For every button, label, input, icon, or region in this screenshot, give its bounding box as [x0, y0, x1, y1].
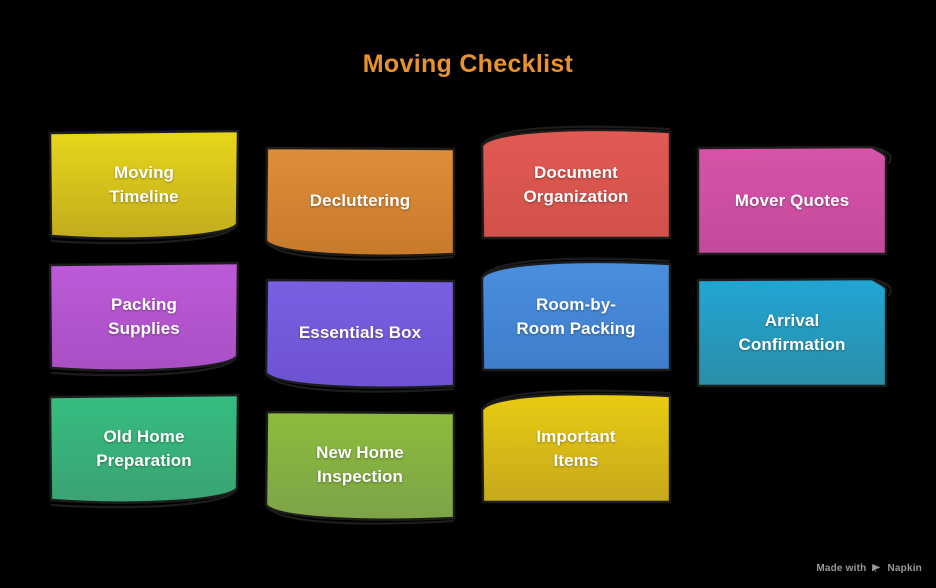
napkin-watermark: Made with Napkin: [816, 563, 922, 574]
card-label: Old Home Preparation: [96, 425, 192, 473]
checklist-card[interactable]: Decluttering: [264, 146, 456, 256]
checklist-card[interactable]: Old Home Preparation: [48, 394, 240, 504]
checklist-card[interactable]: Document Organization: [480, 130, 672, 240]
checklist-card[interactable]: Mover Quotes: [696, 146, 888, 256]
checklist-card[interactable]: New Home Inspection: [264, 410, 456, 520]
checklist-card-grid: Moving TimelineDeclutteringDocument Orga…: [0, 118, 936, 528]
page-title: Moving Checklist: [0, 50, 936, 79]
checklist-card[interactable]: Packing Supplies: [48, 262, 240, 372]
card-label: Document Organization: [523, 161, 628, 209]
watermark-brand-label: Napkin: [887, 563, 922, 574]
card-label: Decluttering: [310, 189, 410, 213]
checklist-card[interactable]: Arrival Confirmation: [696, 278, 888, 388]
card-label: Mover Quotes: [735, 189, 850, 213]
card-label: Essentials Box: [299, 321, 421, 345]
checklist-card[interactable]: Essentials Box: [264, 278, 456, 388]
watermark-prefix-label: Made with: [816, 563, 866, 574]
checklist-card[interactable]: Room-by- Room Packing: [480, 262, 672, 372]
card-label: Arrival Confirmation: [739, 309, 846, 357]
card-label: Important Items: [536, 425, 615, 473]
card-label: Room-by- Room Packing: [516, 293, 635, 341]
checklist-canvas: Moving Checklist Moving TimelineDeclutte…: [0, 0, 936, 588]
checklist-card[interactable]: Moving Timeline: [48, 130, 240, 240]
napkin-leaf-icon: [871, 563, 882, 574]
checklist-card[interactable]: Important Items: [480, 394, 672, 504]
card-label: Packing Supplies: [108, 293, 180, 341]
card-label: New Home Inspection: [316, 441, 404, 489]
card-label: Moving Timeline: [109, 161, 178, 209]
